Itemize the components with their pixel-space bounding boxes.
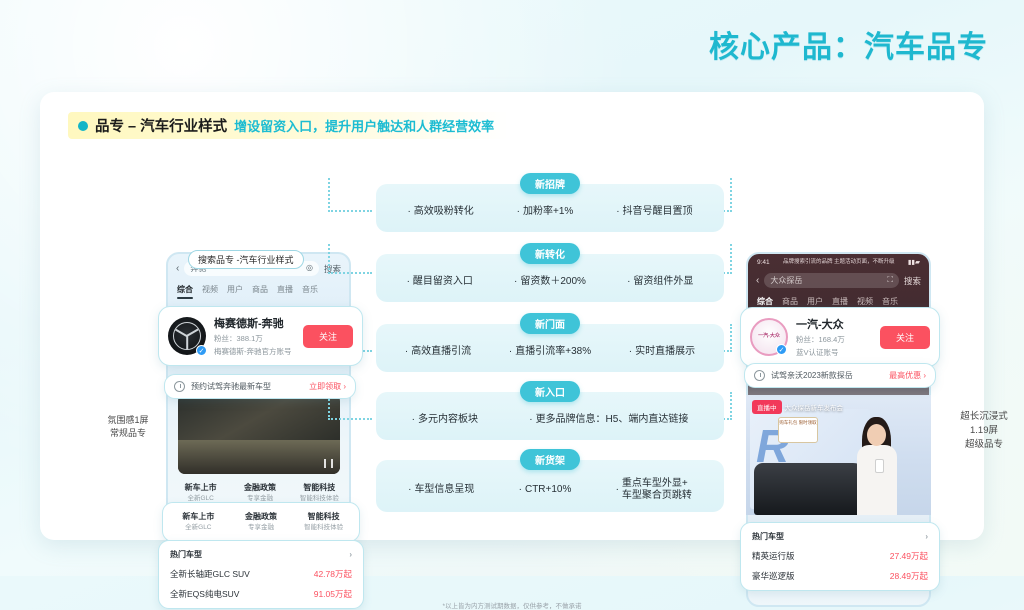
tab-shangpin[interactable]: 商品 xyxy=(782,296,798,307)
verified-badge-icon: ✓ xyxy=(196,345,207,356)
panel-header-subtitle: 增设留资入口，提升用户触达和人群经营效率 xyxy=(234,116,494,135)
left-card-section-2-sub: 专享金融 xyxy=(230,523,293,533)
panel-header-title: 品专 – 汽车行业样式 xyxy=(95,115,227,136)
left-section-2-title: 金融政策 xyxy=(233,482,286,494)
feature-5-item-3-line1: 重点车型外显+ xyxy=(622,478,692,491)
live-stream-preview[interactable]: R 购车礼包 限时领取 直播中 大众探岳新车发布会 xyxy=(746,395,931,515)
table-row[interactable]: 豪华巡逻版 28.49万起 xyxy=(752,570,928,582)
tab-yonghu[interactable]: 用户 xyxy=(807,296,823,307)
right-search-button[interactable]: 搜索 xyxy=(904,275,921,287)
right-hot-title: 热门车型 xyxy=(752,531,784,542)
feature-3-item-3: ·实时直播展示 xyxy=(629,346,695,359)
feature-4-item-1: ·多元内容板块 xyxy=(412,414,478,427)
left-section-2[interactable]: 金融政策 专享金融 xyxy=(233,482,286,504)
tab-zonghe[interactable]: 综合 xyxy=(757,296,773,307)
faw-volkswagen-logo-icon: 一汽-大众 ✓ xyxy=(750,318,788,356)
feature-badge-4: 新入口 xyxy=(520,381,580,402)
left-card-section-1-sub: 全新GLC xyxy=(167,523,230,533)
live-host-avatar xyxy=(853,419,901,515)
left-card-section-1[interactable]: 新车上市 全新GLC xyxy=(167,511,230,533)
left-card-section-3-sub: 智能科技体验 xyxy=(292,523,355,533)
right-brand-auth: 蓝V认证账号 xyxy=(796,347,872,358)
tab-yonghu[interactable]: 用户 xyxy=(227,284,243,295)
main-panel: 品专 – 汽车行业样式 增设留资入口，提升用户触达和人群经营效率 ‹ 奔驰 ◎ … xyxy=(40,92,984,540)
tab-zhibo[interactable]: 直播 xyxy=(832,296,848,307)
feature-3-item-1: ·高效直播引流 xyxy=(405,346,471,359)
left-video-thumbnail[interactable] xyxy=(178,394,340,474)
feature-5-item-3: · 重点车型外显+ 车型聚合页跳转 xyxy=(616,478,692,503)
chevron-right-icon[interactable]: › xyxy=(349,550,352,559)
right-promo-row[interactable]: 试驾亲沃2023新款探岳 最高优惠 › xyxy=(744,363,936,388)
left-hot-row-2-price: 91.05万起 xyxy=(314,588,352,600)
left-annotation: 氛围感1屏 常规品专 xyxy=(97,414,159,440)
feature-2-item-3: ·留资组件外显 xyxy=(627,276,693,289)
feature-row-2: 新转化 ·醒目留资入口 ·留资数＋200% ·留资组件外显 xyxy=(376,254,724,302)
feature-2-item-2: ·留资数＋200% xyxy=(514,276,586,289)
feature-badge-5: 新货架 xyxy=(520,449,580,470)
right-search-input[interactable]: 大众探岳 ⛶ xyxy=(764,273,899,288)
left-brand-card[interactable]: ✓ 梅赛德斯-奔驰 粉丝：388.1万 梅赛德斯-奔驰官方账号 关注 xyxy=(158,306,363,366)
left-annotation-line1: 氛围感1屏 xyxy=(97,414,159,427)
table-row[interactable]: 精英运行版 27.49万起 xyxy=(752,550,928,562)
right-hot-row-1-price: 27.49万起 xyxy=(890,550,928,562)
right-tab-bar[interactable]: 综合 商品 用户 直播 视频 音乐 xyxy=(748,292,929,307)
clock-icon xyxy=(754,370,765,381)
feature-1-item-2: ·加粉率+1% xyxy=(517,206,574,219)
feature-badge-3: 新门面 xyxy=(520,313,580,334)
live-status-badge: 直播中 xyxy=(752,400,782,414)
feature-5-item-3-line2: 车型聚合页跳转 xyxy=(622,490,692,503)
signal-battery-icon: ▮▮▰ xyxy=(908,258,920,266)
right-annotation: 超长沉浸式 1.19屏 超级品专 xyxy=(945,410,1023,451)
connector-line-2 xyxy=(328,244,372,274)
right-annotation-line3: 超级品专 xyxy=(945,438,1023,452)
tab-shipin[interactable]: 视频 xyxy=(857,296,873,307)
left-section-3[interactable]: 智能科技 智能科技体验 xyxy=(293,482,346,504)
status-time: 9:41 xyxy=(757,259,770,266)
back-chevron-icon[interactable]: ‹ xyxy=(756,275,759,286)
clock-icon xyxy=(174,381,185,392)
right-follow-button[interactable]: 关注 xyxy=(880,326,930,349)
table-row[interactable]: 全新EQS纯电SUV 91.05万起 xyxy=(170,588,352,600)
feature-row-3: 新门面 ·高效直播引流 ·直播引流率+38% ·实时直播展示 xyxy=(376,324,724,372)
live-ticket-overlay: 购车礼包 限时领取 xyxy=(778,417,818,443)
chevron-right-icon[interactable]: › xyxy=(925,532,928,541)
live-title: 大众探岳新车发布会 xyxy=(785,402,844,412)
feature-1-item-3: ·抖音号醒目置顶 xyxy=(616,206,692,219)
tab-yinyue[interactable]: 音乐 xyxy=(302,284,318,295)
right-hot-models-card[interactable]: 热门车型 › 精英运行版 27.49万起 豪华巡逻版 28.49万起 xyxy=(740,522,940,591)
left-hot-row-2-name: 全新EQS纯电SUV xyxy=(170,588,239,600)
left-tab-bar[interactable]: 综合 视频 用户 商品 直播 音乐 xyxy=(168,280,349,295)
right-hot-row-2-name: 豪华巡逻版 xyxy=(752,570,795,582)
left-brand-fans: 粉丝：388.1万 xyxy=(214,333,295,344)
feature-row-5: 新货架 ·车型信息呈现 ·CTR+10% · 重点车型外显+ 车型聚合页跳转 xyxy=(376,460,724,512)
connector-line-1 xyxy=(328,178,372,212)
verified-badge-icon: ✓ xyxy=(776,344,787,355)
right-annotation-line2: 1.19屏 xyxy=(945,424,1023,438)
left-hot-row-1-price: 42.78万起 xyxy=(314,568,352,580)
status-center-note: 品牌搜索引流的品牌 主题活动页面，不断升级 xyxy=(783,259,895,266)
scan-icon[interactable]: ⛶ xyxy=(887,275,893,286)
left-promo-row[interactable]: 预约试驾奔驰最新车型 立即领取 › xyxy=(164,374,356,399)
video-road-art xyxy=(178,440,340,474)
left-section-card[interactable]: 新车上市 全新GLC 金融政策 专享金融 智能科技 智能科技体验 xyxy=(162,502,360,542)
left-hot-row-1-name: 全新长轴距GLC SUV xyxy=(170,568,250,580)
feature-1-item-1: ·高效吸粉转化 xyxy=(407,206,473,219)
panel-header: 品专 – 汽车行业样式 增设留资入口，提升用户触达和人群经营效率 xyxy=(68,112,508,139)
left-hot-models-card[interactable]: 热门车型 › 全新长轴距GLC SUV 42.78万起 全新EQS纯电SUV 9… xyxy=(158,540,364,609)
right-brand-card[interactable]: 一汽-大众 ✓ 一汽-大众 粉丝：168.4万 蓝V认证账号 关注 xyxy=(740,307,940,367)
feature-row-4: 新入口 ·多元内容板块 ·更多品牌信息：H5、端内直达链接 xyxy=(376,392,724,440)
left-promo-cta[interactable]: 立即领取 › xyxy=(309,381,346,392)
tab-shangpin[interactable]: 商品 xyxy=(252,284,268,295)
feature-4-item-2: ·更多品牌信息：H5、端内直达链接 xyxy=(529,414,688,427)
left-hot-header: 热门车型 › xyxy=(170,549,352,560)
right-annotation-line1: 超长沉浸式 xyxy=(945,410,1023,424)
feature-3-item-2: ·直播引流率+38% xyxy=(509,346,591,359)
feature-2-item-1: ·醒目留资入口 xyxy=(407,276,473,289)
left-annotation-line2: 常规品专 xyxy=(97,427,159,440)
right-search-bar[interactable]: ‹ 大众探岳 ⛶ 搜索 xyxy=(748,266,929,292)
right-hot-header: 热门车型 › xyxy=(752,531,928,542)
feature-row-1: 新招牌 ·高效吸粉转化 ·加粉率+1% ·抖音号醒目置顶 xyxy=(376,184,724,232)
tab-shipin[interactable]: 视频 xyxy=(202,284,218,295)
right-brand-fans: 粉丝：168.4万 xyxy=(796,334,872,345)
left-brand-auth: 梅赛德斯-奔驰官方账号 xyxy=(214,346,295,357)
right-search-value: 大众探岳 xyxy=(770,275,802,286)
camera-icon[interactable]: ◎ xyxy=(306,263,313,274)
back-chevron-icon[interactable]: ‹ xyxy=(176,263,179,274)
left-card-section-1-title: 新车上市 xyxy=(167,511,230,523)
right-status-bar: 9:41 品牌搜索引流的品牌 主题活动页面，不断升级 ▮▮▰ xyxy=(748,254,929,266)
table-row[interactable]: 全新长轴距GLC SUV 42.78万起 xyxy=(170,568,352,580)
left-section-3-title: 智能科技 xyxy=(293,482,346,494)
page-title: 核心产品：汽车品专 xyxy=(709,22,988,66)
left-hot-title: 热门车型 xyxy=(170,549,202,560)
feature-5-item-1: ·车型信息呈现 xyxy=(408,484,474,497)
tab-zhibo[interactable]: 直播 xyxy=(277,284,293,295)
left-section-tabs-inline: 新车上市 全新GLC 金融政策 专享金融 智能科技 智能科技体验 xyxy=(174,482,346,504)
right-brand-name: 一汽-大众 xyxy=(796,316,872,332)
left-card-section-3[interactable]: 智能科技 智能科技体验 xyxy=(292,511,355,533)
right-hot-row-2-price: 28.49万起 xyxy=(890,570,928,582)
left-follow-button[interactable]: 关注 xyxy=(303,325,353,348)
left-phone-callout-tag: 搜索品专 -汽车行业样式 xyxy=(188,250,304,269)
live-car-art xyxy=(754,463,869,515)
tab-yinyue[interactable]: 音乐 xyxy=(882,296,898,307)
mercedes-benz-logo-icon: ✓ xyxy=(168,317,206,355)
live-badge-group: 直播中 大众探岳新车发布会 xyxy=(752,400,843,414)
left-card-section-3-title: 智能科技 xyxy=(292,511,355,523)
right-promo-text: 试驾亲沃2023新款探岳 xyxy=(771,370,883,381)
pause-icon[interactable] xyxy=(324,459,333,468)
left-card-section-2-title: 金融政策 xyxy=(230,511,293,523)
right-promo-cta[interactable]: 最高优惠 › xyxy=(889,370,926,381)
left-section-1[interactable]: 新车上市 全新GLC xyxy=(174,482,227,504)
right-hot-row-1-name: 精英运行版 xyxy=(752,550,795,562)
left-brand-name: 梅赛德斯-奔驰 xyxy=(214,315,295,331)
left-promo-text: 预约试驾奔驰最新车型 xyxy=(191,381,303,392)
feature-5-item-2: ·CTR+10% xyxy=(519,484,572,497)
feature-badge-1: 新招牌 xyxy=(520,173,580,194)
left-section-1-title: 新车上市 xyxy=(174,482,227,494)
feature-badge-2: 新转化 xyxy=(520,243,580,264)
left-card-section-2[interactable]: 金融政策 专享金融 xyxy=(230,511,293,533)
tab-zonghe[interactable]: 综合 xyxy=(177,284,193,295)
bullet-dot-icon xyxy=(78,121,88,131)
